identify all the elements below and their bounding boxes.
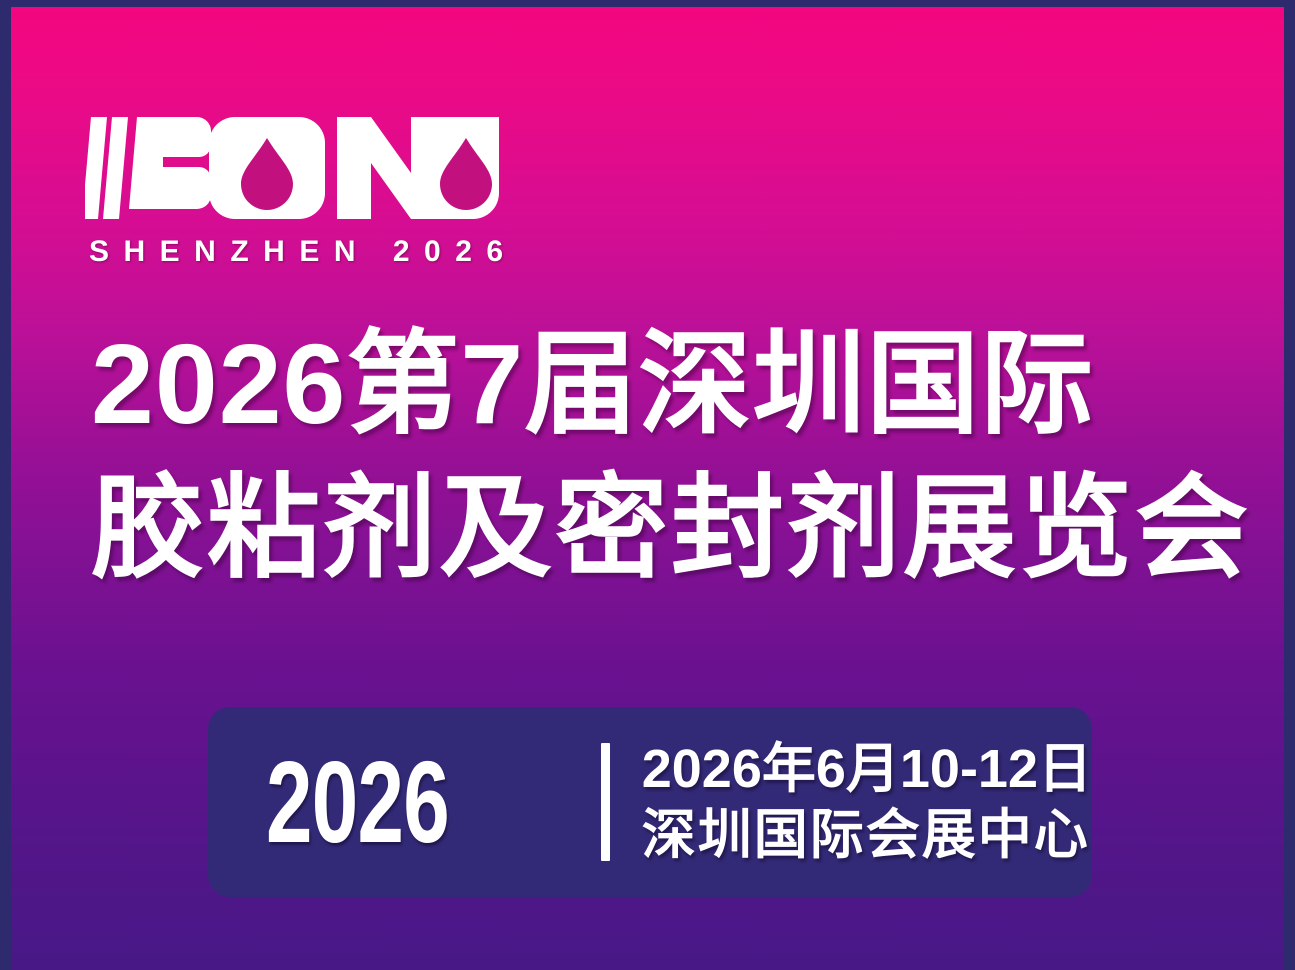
logo-wordmark-bond bbox=[85, 111, 505, 226]
bond-logo-svg bbox=[85, 111, 505, 226]
event-info-panel: 2026 2026年6月10-12日 深圳国际会展中心 bbox=[208, 707, 1092, 897]
headline-line-1: 2026第7届深圳国际 bbox=[91, 312, 1221, 456]
info-text-block: 2026年6月10-12日 深圳国际会展中心 bbox=[642, 736, 1092, 868]
headline-line-2: 胶粘剂及密封剂展览会 bbox=[91, 456, 1221, 600]
vertical-divider bbox=[601, 743, 610, 861]
event-venue: 深圳国际会展中心 bbox=[642, 802, 1092, 868]
event-logo: SHENZHEN 2026 bbox=[85, 111, 515, 267]
logo-letter-n bbox=[337, 117, 445, 219]
poster-canvas: SHENZHEN 2026 2026第7届深圳国际 胶粘剂及密封剂展览会 202… bbox=[11, 7, 1284, 970]
logo-letter-o bbox=[209, 117, 325, 219]
logo-subtitle: SHENZHEN 2026 bbox=[89, 237, 515, 267]
event-date: 2026年6月10-12日 bbox=[642, 736, 1092, 802]
page-title: 2026第7届深圳国际 胶粘剂及密封剂展览会 bbox=[91, 312, 1221, 600]
logo-letter-b bbox=[85, 117, 211, 219]
poster-root: SHENZHEN 2026 2026第7届深圳国际 胶粘剂及密封剂展览会 202… bbox=[0, 0, 1295, 970]
logo-letter-d bbox=[433, 117, 499, 219]
info-year: 2026 bbox=[266, 744, 572, 860]
